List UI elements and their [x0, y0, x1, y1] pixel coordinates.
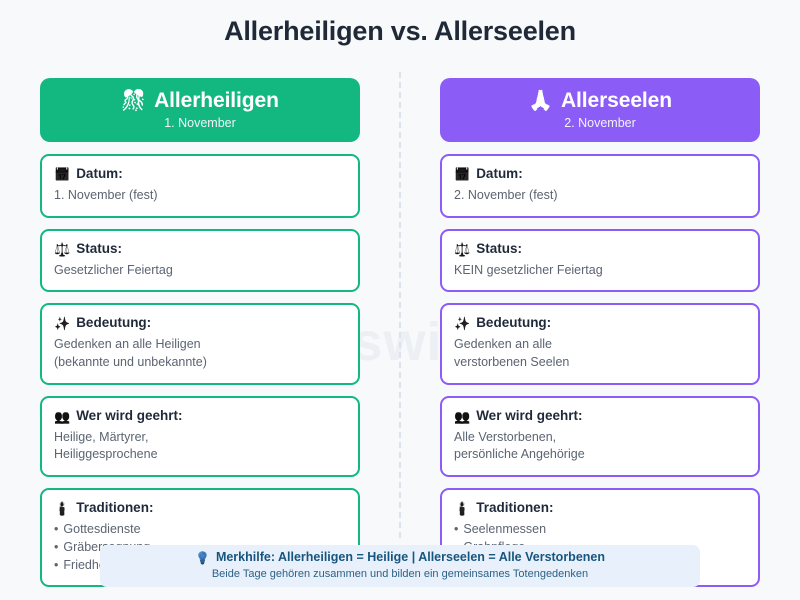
card-text-line: Gedenken an alle: [454, 336, 746, 354]
card-label: Status:: [476, 241, 522, 258]
card-text-line: persönliche Angehörige: [454, 446, 746, 464]
card-heading: 👥Wer wird geehrt:: [54, 408, 346, 425]
column-header-subtitle: 2. November: [564, 116, 636, 130]
card-text-line: verstorbenen Seelen: [454, 354, 746, 372]
card-text-line: Gesetzlicher Feiertag: [54, 262, 346, 280]
candle-icon: 🕯️: [54, 502, 70, 515]
candle-icon: 🕯️: [454, 502, 470, 515]
column-header-allerheiligen: 🎊Allerheiligen1. November: [40, 78, 360, 142]
card-label: Datum:: [76, 166, 123, 183]
card-body: Alle Verstorbenen,persönliche Angehörige: [454, 429, 746, 465]
card-heading: 🕯️Traditionen:: [454, 500, 746, 517]
card-text-line: 1. November (fest): [54, 187, 346, 205]
card-label: Traditionen:: [76, 500, 153, 517]
info-card: 📅Datum:2. November (fest): [440, 154, 760, 218]
info-card: ✨Bedeutung:Gedenken an alleverstorbenen …: [440, 303, 760, 384]
column-allerheiligen: 🎊Allerheiligen1. November📅Datum:1. Novem…: [40, 78, 360, 598]
two-people-icon: 👥: [454, 410, 470, 423]
footer-main-line: 💡 Merkhilfe: Allerheiligen = Heilige | A…: [195, 550, 605, 565]
card-label: Datum:: [476, 166, 523, 183]
card-body: Gesetzlicher Feiertag: [54, 262, 346, 280]
card-bullet-item: Gottesdienste: [54, 520, 346, 538]
card-label: Traditionen:: [476, 500, 553, 517]
page-title: Allerheiligen vs. Allerseelen: [0, 16, 800, 47]
party-popper-icon: 🎊: [121, 91, 146, 111]
card-body: Gedenken an alle Heiligen(bekannte und u…: [54, 336, 346, 372]
card-heading: 📅Datum:: [54, 166, 346, 183]
balance-scale-icon: ⚖️: [454, 243, 470, 256]
calendar-icon: 📅: [454, 168, 470, 181]
card-label: Bedeutung:: [76, 315, 151, 332]
card-text-line: KEIN gesetzlicher Feiertag: [454, 262, 746, 280]
card-text-line: (bekannte und unbekannte): [54, 354, 346, 372]
card-body: 1. November (fest): [54, 187, 346, 205]
card-heading: 📅Datum:: [454, 166, 746, 183]
card-bullet-item: Seelenmessen: [454, 520, 746, 538]
column-header-subtitle: 1. November: [164, 116, 236, 130]
lightbulb-icon: 💡: [195, 552, 210, 564]
info-card: ✨Bedeutung:Gedenken an alle Heiligen(bek…: [40, 303, 360, 384]
column-header-allerseelen: 🙏Allerseelen2. November: [440, 78, 760, 142]
card-heading: ✨Bedeutung:: [54, 315, 346, 332]
card-label: Status:: [76, 241, 122, 258]
card-body: 2. November (fest): [454, 187, 746, 205]
info-card: ⚖️Status:Gesetzlicher Feiertag: [40, 229, 360, 293]
info-card: 👥Wer wird geehrt:Alle Verstorbenen,persö…: [440, 396, 760, 477]
balance-scale-icon: ⚖️: [54, 243, 70, 256]
card-text-line: Heilige, Märtyrer,: [54, 429, 346, 447]
calendar-icon: 📅: [54, 168, 70, 181]
card-body: Heilige, Märtyrer,Heiliggesprochene: [54, 429, 346, 465]
card-heading: ✨Bedeutung:: [454, 315, 746, 332]
column-header-title: Allerseelen: [561, 90, 672, 111]
footer-banner: 💡 Merkhilfe: Allerheiligen = Heilige | A…: [100, 545, 700, 587]
card-label: Bedeutung:: [476, 315, 551, 332]
sparkles-icon: ✨: [454, 317, 470, 330]
card-text-line: 2. November (fest): [454, 187, 746, 205]
sparkles-icon: ✨: [54, 317, 70, 330]
card-heading: 👥Wer wird geehrt:: [454, 408, 746, 425]
card-label: Wer wird geehrt:: [476, 408, 582, 425]
column-header-title: Allerheiligen: [154, 90, 279, 111]
column-header-top: 🎊Allerheiligen: [121, 90, 279, 111]
card-text-line: Heiliggesprochene: [54, 446, 346, 464]
card-label: Wer wird geehrt:: [76, 408, 182, 425]
info-card: 👥Wer wird geehrt:Heilige, Märtyrer,Heili…: [40, 396, 360, 477]
comparison-columns: 🎊Allerheiligen1. November📅Datum:1. Novem…: [0, 78, 800, 598]
praying-hands-icon: 🙏: [528, 91, 553, 111]
column-allerseelen: 🙏Allerseelen2. November📅Datum:2. Novembe…: [440, 78, 760, 598]
infographic-page: feiertagswissen.de Allerheiligen vs. All…: [0, 0, 800, 600]
info-card: 📅Datum:1. November (fest): [40, 154, 360, 218]
card-body: KEIN gesetzlicher Feiertag: [454, 262, 746, 280]
card-text-line: Gedenken an alle Heiligen: [54, 336, 346, 354]
card-heading: 🕯️Traditionen:: [54, 500, 346, 517]
footer-sub-text: Beide Tage gehören zusammen und bilden e…: [212, 568, 588, 581]
column-header-top: 🙏Allerseelen: [528, 90, 672, 111]
footer-main-text: Merkhilfe: Allerheiligen = Heilige | All…: [216, 550, 605, 565]
card-heading: ⚖️Status:: [454, 241, 746, 258]
info-card: ⚖️Status:KEIN gesetzlicher Feiertag: [440, 229, 760, 293]
card-heading: ⚖️Status:: [54, 241, 346, 258]
card-text-line: Alle Verstorbenen,: [454, 429, 746, 447]
two-people-icon: 👥: [54, 410, 70, 423]
card-body: Gedenken an alleverstorbenen Seelen: [454, 336, 746, 372]
